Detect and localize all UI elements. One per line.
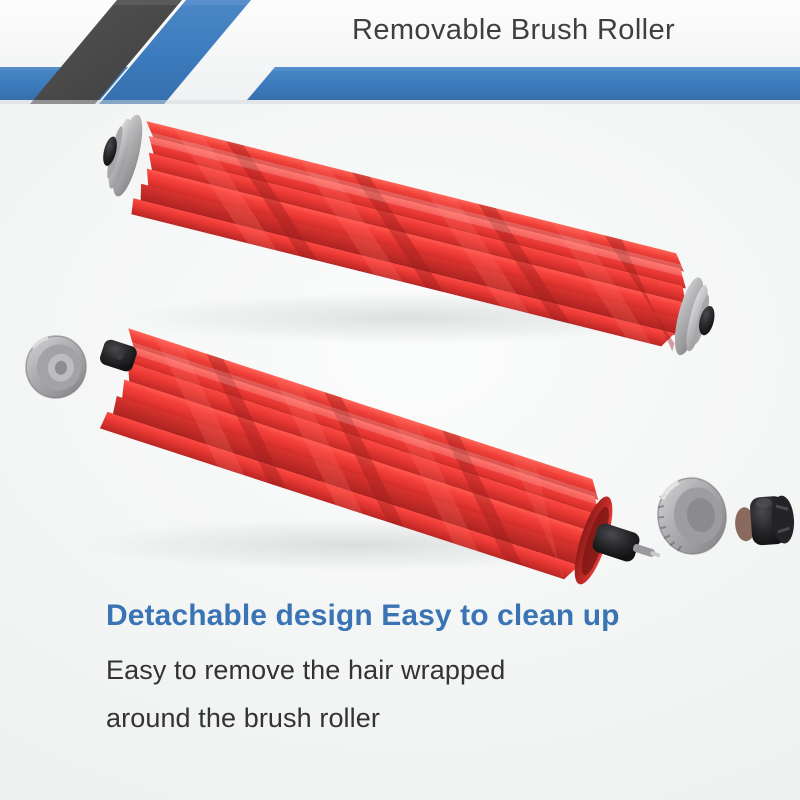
exploded-left-end-cap (22, 332, 90, 402)
gray-cap-bore (46, 352, 76, 383)
gray-cap-disc (669, 275, 710, 358)
coupling-collar (734, 507, 756, 542)
black-hub (696, 304, 717, 336)
gray-cap-outline (654, 475, 730, 558)
roller-fin (100, 411, 579, 582)
upper-brush-roller (90, 109, 729, 361)
axle-pin (632, 543, 655, 557)
gray-cap-bore (685, 497, 716, 534)
gray-cap-hub-face (692, 294, 712, 344)
gray-cap-inner-ring (34, 342, 84, 394)
roller-helix-shadows (203, 141, 696, 351)
gray-cap-center (54, 360, 68, 376)
banner-bar-right (247, 67, 800, 100)
hub-socket (114, 351, 124, 361)
banner-bar-right-highlight (271, 67, 800, 71)
coupling-body (749, 496, 786, 546)
gray-cap-inner-ring (671, 485, 725, 546)
gray-cap-rim (682, 284, 712, 353)
banner-stripe-blue-highlight (182, 0, 251, 5)
gray-cap-disc (22, 332, 90, 402)
page-title: Removable Brush Roller (352, 14, 675, 47)
roller-specular (147, 132, 685, 276)
roller-fin (123, 328, 604, 500)
roller-helix-shadows (174, 354, 554, 566)
exploded-right-end-cap (654, 475, 730, 558)
roller-helix-highlights (151, 128, 674, 344)
caption-headline: Detachable design Easy to clean up (106, 596, 726, 636)
upper-roller-right-cap (669, 275, 723, 361)
tube-inner-bore (567, 493, 620, 589)
upper-roller-body (123, 121, 699, 352)
roller-fin (137, 184, 683, 336)
lower-roller-left-hub (98, 338, 138, 373)
lower-roller-open-end (567, 493, 620, 589)
coupling-slots (776, 505, 790, 532)
banner-bar-shadow (0, 100, 800, 104)
axle-pin-tip (650, 551, 661, 558)
gray-cap-rim (104, 117, 135, 190)
exploded-black-coupling (733, 495, 795, 547)
upper-roller-shadow (120, 292, 700, 344)
black-hub (101, 135, 120, 167)
roller-fin (122, 362, 604, 536)
roller-specular (127, 342, 600, 505)
black-axle (590, 521, 641, 563)
header-banner: Removable Brush Roller (0, 0, 800, 104)
gray-cap-highlight (660, 482, 679, 499)
tube-bore-shadow (577, 504, 614, 577)
roller-fin (144, 136, 690, 288)
roller-fin (129, 198, 674, 349)
gray-cap-knurl (656, 494, 682, 553)
product-feature-image: Removable Brush Roller (0, 0, 800, 800)
lower-roller-body (96, 328, 613, 585)
caption-block: Detachable design Easy to clean up Easy … (106, 596, 726, 742)
lower-brush-roller (79, 323, 676, 605)
lower-roller-shadow (80, 519, 630, 571)
banner-stripe-gray-highlight (113, 0, 182, 5)
black-hub (98, 338, 138, 373)
roller-fin (143, 169, 689, 321)
gray-cap-outline (22, 332, 90, 402)
upper-roller-left-cap (94, 109, 148, 199)
lower-roller-right-axle (590, 521, 664, 571)
roller-fin (144, 153, 690, 305)
roller-fin (111, 396, 591, 569)
roller-helix-highlights (123, 337, 595, 579)
roller-fin (118, 380, 598, 553)
caption-body-line-1: Easy to remove the hair wrapped (106, 646, 726, 694)
roller-fin (124, 345, 605, 517)
roller-fin (143, 121, 688, 272)
gray-cap-highlight (32, 336, 48, 350)
coupling-highlight (755, 497, 772, 508)
caption-body-line-2: around the brush roller (106, 694, 726, 742)
coupling-face (770, 495, 795, 544)
gray-cap-hub-face (104, 125, 125, 179)
gray-cap-disc (107, 112, 149, 199)
gray-cap-disc (654, 475, 730, 558)
